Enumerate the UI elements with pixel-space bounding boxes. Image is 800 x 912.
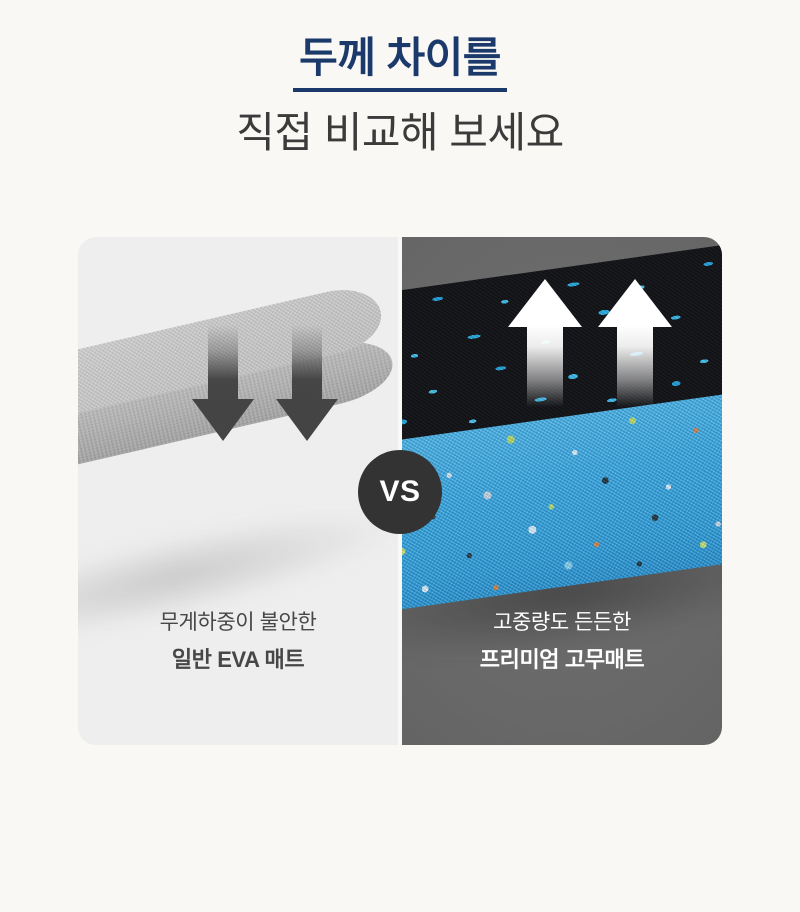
vs-badge: VS — [358, 450, 442, 534]
caption-right-line1: 고중량도 든든한 — [402, 609, 722, 636]
arrow-shaft — [292, 325, 322, 401]
arrow-up-icon — [508, 279, 582, 407]
arrow-head — [598, 279, 672, 327]
arrow-down-icon — [276, 325, 338, 441]
caption-left: 무게하중이 불안한 일반 EVA 매트 — [78, 609, 398, 675]
caption-left-line2: 일반 EVA 매트 — [78, 646, 398, 675]
headline-block: 두께 차이를 직접 비교해 보세요 — [0, 34, 800, 159]
page-root: 두께 차이를 직접 비교해 보세요 무게하중이 불안한 — [0, 0, 800, 912]
arrow-shaft — [208, 325, 238, 401]
arrow-down-icon — [192, 325, 254, 441]
arrow-up-icon — [598, 279, 672, 407]
arrow-head — [276, 399, 338, 441]
headline-line1-wrapper: 두께 차이를 — [293, 34, 507, 96]
caption-right-line2: 프리미엄 고무매트 — [402, 646, 722, 675]
comparison-panel-left: 무게하중이 불안한 일반 EVA 매트 — [78, 237, 398, 745]
comparison-panel-right: 고중량도 든든한 프리미엄 고무매트 — [402, 237, 722, 745]
caption-left-line1: 무게하중이 불안한 — [78, 609, 398, 636]
headline-underline — [293, 88, 507, 92]
arrow-shaft — [617, 325, 653, 407]
headline-line1: 두께 차이를 — [299, 34, 501, 82]
arrow-head — [508, 279, 582, 327]
arrow-shaft — [527, 325, 563, 407]
arrow-head — [192, 399, 254, 441]
headline-line2: 직접 비교해 보세요 — [0, 108, 800, 158]
caption-right: 고중량도 든든한 프리미엄 고무매트 — [402, 609, 722, 675]
